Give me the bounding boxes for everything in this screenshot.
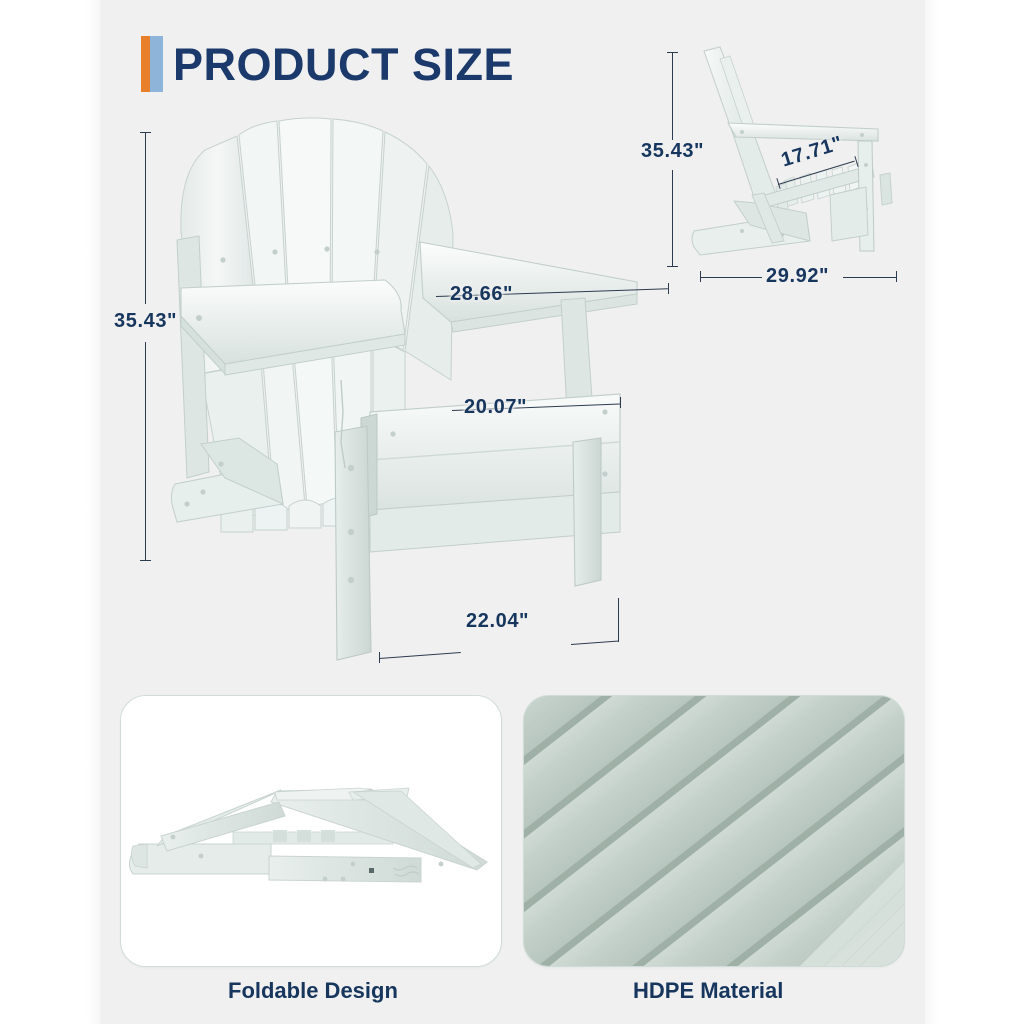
dim-height-line-lower [145, 342, 146, 560]
folded-chair-image [121, 696, 501, 966]
accent-bar-orange [141, 36, 150, 92]
side-runner [692, 201, 810, 255]
product-size-infographic: PRODUCT SIZE [0, 0, 1024, 1024]
feature-caption-foldable: Foldable Design [228, 978, 398, 1004]
dim-side-height-line-lower [672, 170, 673, 266]
page-title-text: PRODUCT SIZE [173, 42, 514, 87]
accent-bar-blue [150, 36, 163, 92]
dim-overall-height: 35.43" [114, 310, 177, 333]
dim-height-line-upper [145, 132, 146, 304]
dim-side-height-line-upper [672, 52, 673, 140]
feature-caption-hdpe: HDPE Material [633, 978, 783, 1004]
page-title: PRODUCT SIZE [141, 34, 514, 94]
dim-arm-width: 28.66" [450, 283, 513, 306]
dim-side-height: 35.43" [641, 140, 704, 163]
dim-basewidth-tick-right [618, 598, 619, 642]
hdpe-texture-image [524, 696, 904, 966]
dim-seat-width: 20.07" [464, 396, 527, 419]
dim-height-cap-bottom [140, 560, 151, 561]
side-rear-brace [830, 187, 868, 241]
dim-seatwidth-cap-right [620, 397, 621, 408]
chair-front-left-leg [335, 426, 371, 660]
chair-front-right-leg [573, 438, 601, 586]
dim-base-width: 22.04" [466, 610, 529, 633]
dim-depth-line-right [843, 277, 897, 278]
side-back-lower [734, 129, 776, 203]
dim-depth-line-left [700, 277, 762, 278]
dim-armwidth-cap-right [668, 283, 669, 294]
side-arm-bracket [880, 173, 892, 205]
chair-front-illustration [165, 112, 675, 672]
feature-card-row [120, 695, 905, 970]
dim-overall-depth: 29.92" [766, 265, 829, 288]
feature-card-foldable[interactable] [120, 695, 502, 967]
dim-depth-cap-right [896, 271, 897, 282]
dim-side-height-cap-bottom [667, 266, 678, 267]
feature-card-hdpe[interactable] [523, 695, 905, 967]
